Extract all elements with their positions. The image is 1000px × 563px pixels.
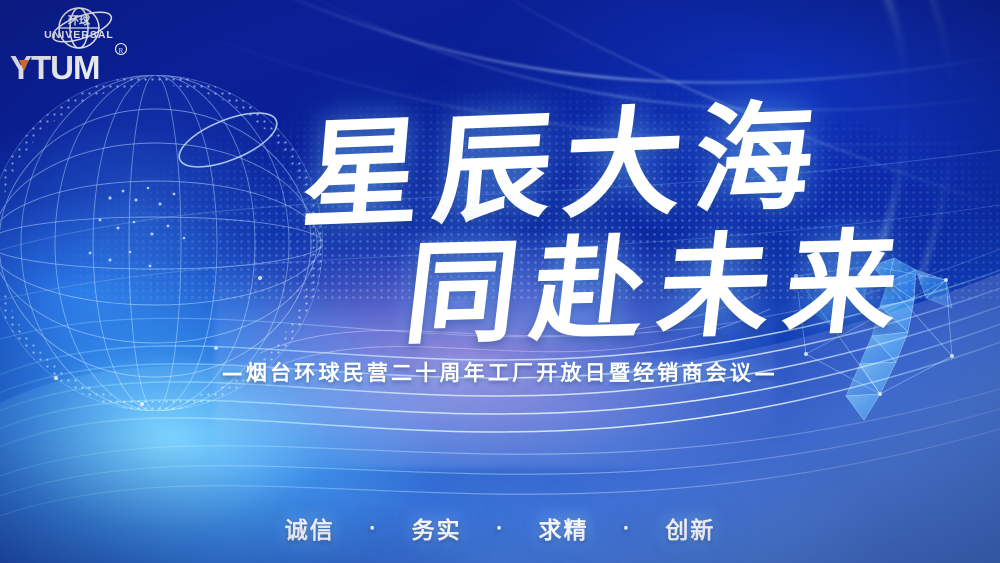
slogan-separator-1: · — [355, 518, 392, 539]
slogan-separator-2: · — [482, 518, 519, 539]
event-banner: 环球 UNIVERSAL R YTUM 星辰大海 同赴未来 —烟台环球民营二十周… — [0, 0, 1000, 563]
company-slogan: 诚信 · 务实 · 求精 · 创新 — [0, 511, 1000, 545]
slogan-word-2: 务实 — [402, 518, 472, 544]
slogan-word-4: 创新 — [655, 518, 725, 544]
slogan-word-3: 求精 — [528, 518, 598, 544]
logo-emblem-cn: 环球 — [68, 13, 91, 27]
slogan-word-1: 诚信 — [275, 518, 345, 544]
logo-emblem-en: UNIVERSAL — [44, 29, 114, 41]
headline-block: 星辰大海 同赴未来 — [0, 60, 1000, 360]
event-subtitle: —烟台环球民营二十周年工厂开放日暨经销商会议— — [0, 357, 1000, 387]
headline-line-2: 同赴未来 — [398, 192, 922, 366]
slogan-separator-3: · — [608, 518, 645, 539]
